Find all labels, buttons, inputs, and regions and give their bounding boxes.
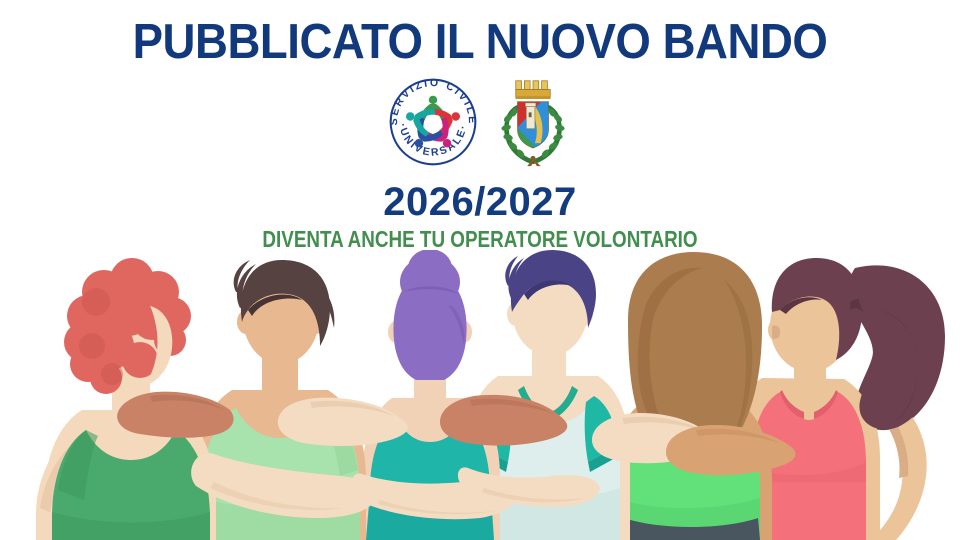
servizio-civile-universale-logo: SERVIZIO CIVILE ·UNIVERSALE· — [387, 76, 479, 168]
svg-text:·UNIVERSALE·: ·UNIVERSALE· — [396, 123, 469, 159]
shield-icon — [514, 100, 552, 151]
poster-canvas: PUBBLICATO IL NUOVO BANDO SERVIZIO CIVIL… — [0, 0, 960, 540]
comune-coat-of-arms — [493, 76, 573, 168]
logo-row: SERVIZIO CIVILE ·UNIVERSALE· — [0, 76, 960, 168]
person-long-brown-hair-green-tank — [610, 252, 772, 540]
year-label: 2026/2027 — [0, 180, 960, 224]
page-title: PUBBLICATO IL NUOVO BANDO — [34, 14, 927, 70]
crown-icon — [516, 81, 551, 99]
subtitle-label: DIVENTA ANCHE TU OPERATORE VOLONTARIO — [86, 226, 873, 252]
group-illustration — [0, 250, 960, 540]
